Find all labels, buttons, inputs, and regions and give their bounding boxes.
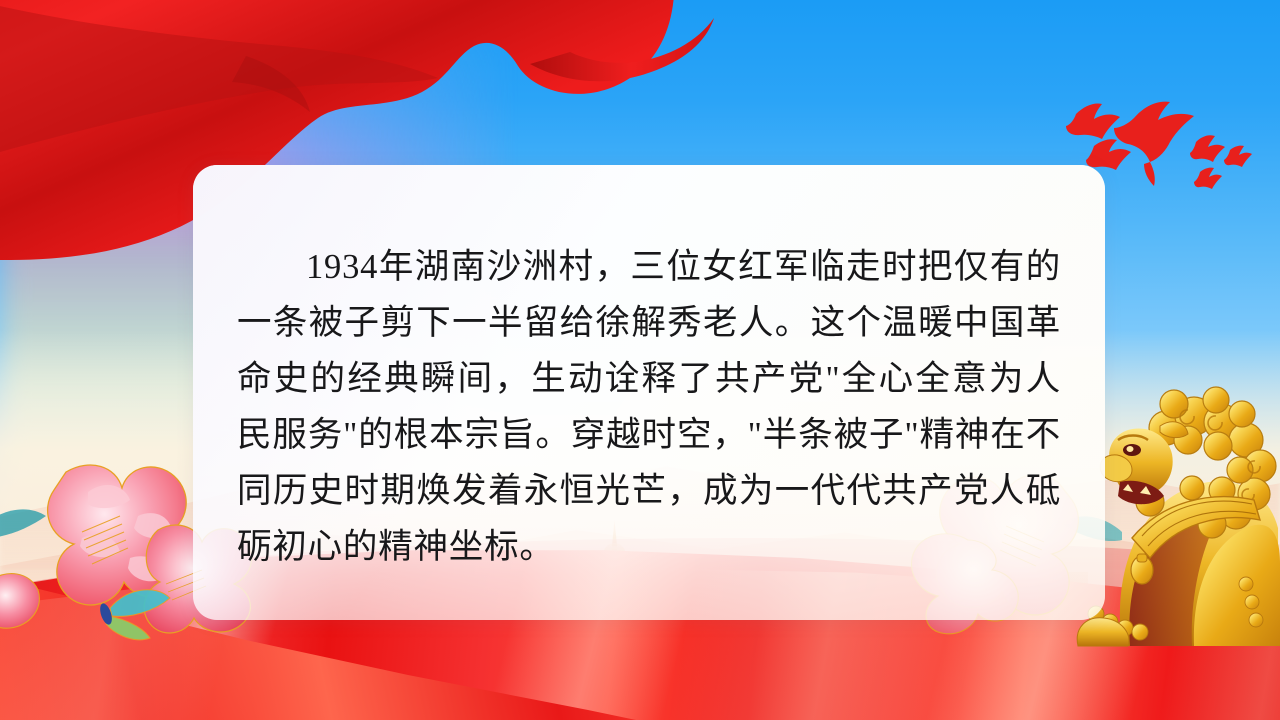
slide-canvas: 1934年湖南沙洲村，三位女红军临走时把仅有的一条被子剪下一半留给徐解秀老人。这… bbox=[0, 0, 1280, 720]
content-card: 1934年湖南沙洲村，三位女红军临走时把仅有的一条被子剪下一半留给徐解秀老人。这… bbox=[193, 165, 1105, 620]
card-paragraph: 1934年湖南沙洲村，三位女红军临走时把仅有的一条被子剪下一半留给徐解秀老人。这… bbox=[237, 239, 1061, 575]
